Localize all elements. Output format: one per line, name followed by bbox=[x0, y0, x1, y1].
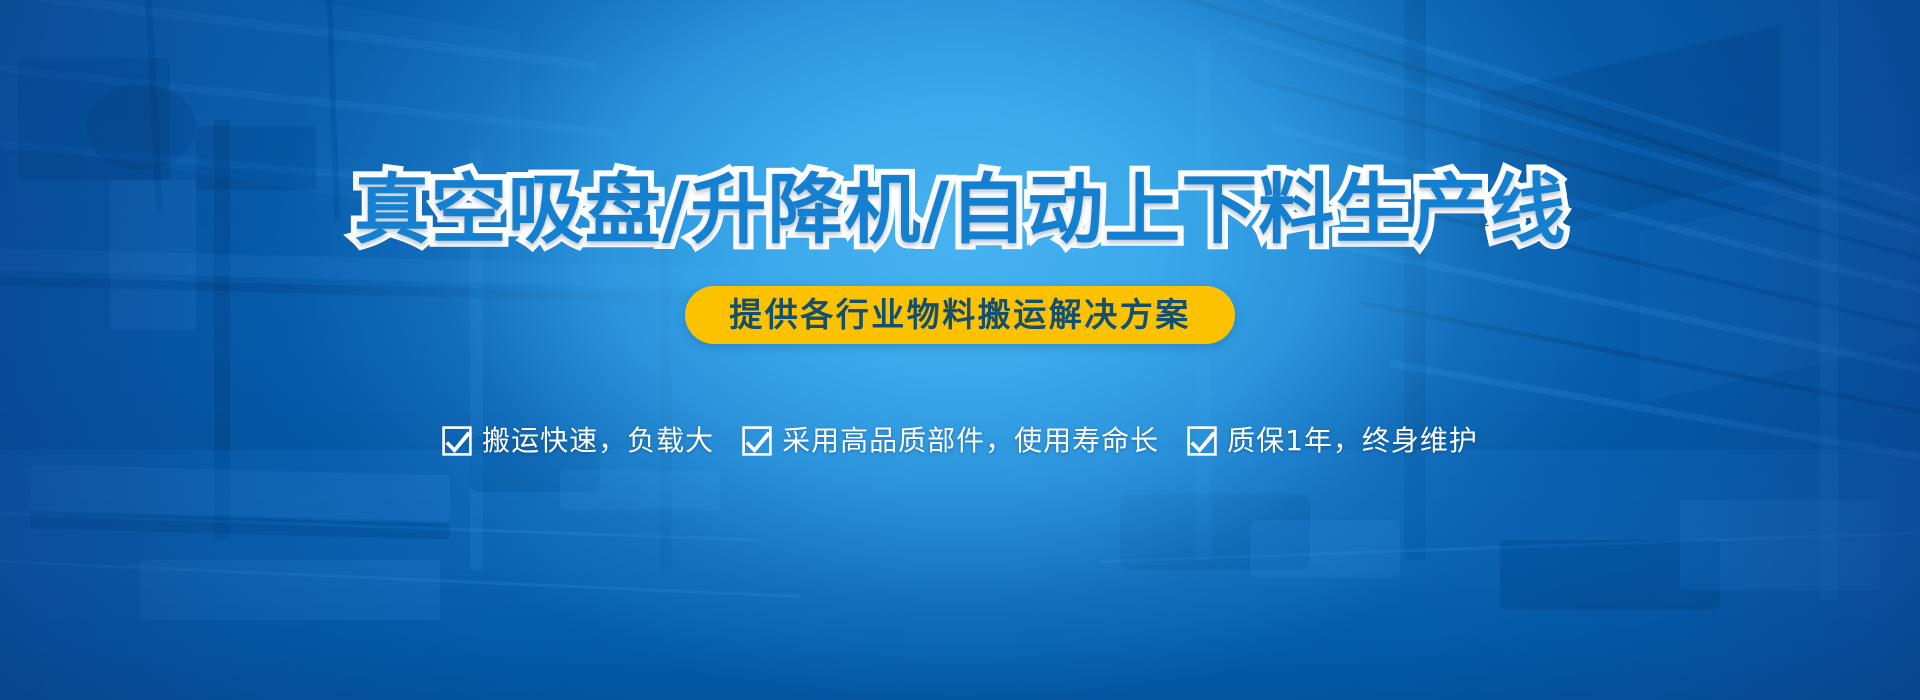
badge-container: 提供各行业物料搬运解决方案 bbox=[0, 286, 1920, 344]
checkbox-checked-icon bbox=[742, 426, 772, 456]
banner-title: 真空吸盘/升降机/自动上下料生产线 bbox=[354, 163, 1567, 257]
feature-list: 搬运快速，负载大 采用高品质部件，使用寿命长 bbox=[0, 424, 1920, 458]
feature-label: 搬运快速，负载大 bbox=[482, 424, 714, 458]
title-container: 真空吸盘/升降机/自动上下料生产线 bbox=[0, 112, 1920, 308]
feature-item: 采用高品质部件，使用寿命长 bbox=[742, 424, 1159, 458]
banner-content: 真空吸盘/升降机/自动上下料生产线 提供各行业物料搬运解决方案 搬运快速，负载大 bbox=[0, 0, 1920, 700]
feature-item: 搬运快速，负载大 bbox=[442, 424, 714, 458]
feature-item: 质保1年，终身维护 bbox=[1187, 424, 1478, 458]
feature-label: 质保1年，终身维护 bbox=[1227, 424, 1478, 458]
hero-banner: 真空吸盘/升降机/自动上下料生产线 提供各行业物料搬运解决方案 搬运快速，负载大 bbox=[0, 0, 1920, 700]
checkbox-checked-icon bbox=[1187, 426, 1217, 456]
feature-label: 采用高品质部件，使用寿命长 bbox=[782, 424, 1159, 458]
tagline-badge: 提供各行业物料搬运解决方案 bbox=[685, 286, 1235, 344]
checkbox-checked-icon bbox=[442, 426, 472, 456]
